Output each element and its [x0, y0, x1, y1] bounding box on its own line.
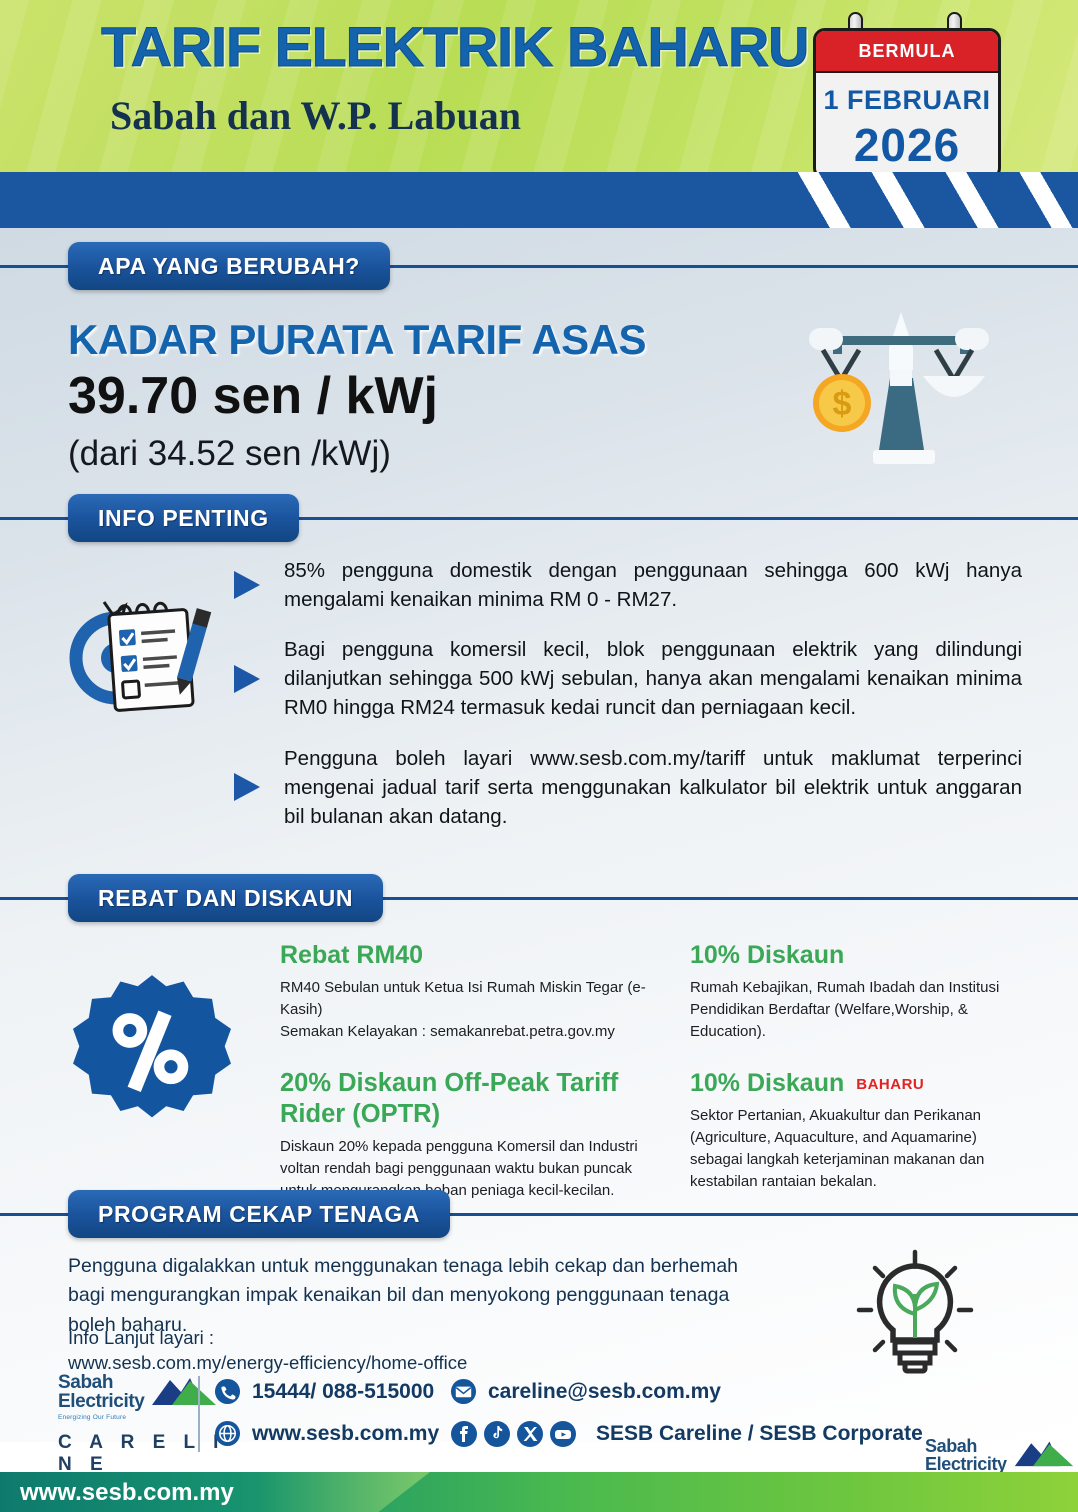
careline-label: C A R E L I N E — [58, 1432, 236, 1476]
info-bullet-list: 85% pengguna domestik dengan penggunaan … — [232, 556, 1022, 852]
phone-icon — [214, 1378, 241, 1405]
brand-tagline: Energizing Our Future — [58, 1414, 144, 1421]
rebate-body: RM40 Sebulan untuk Ketua Isi Rumah Miski… — [280, 977, 670, 1042]
footer-email[interactable]: careline@sesb.com.my — [450, 1378, 721, 1405]
rebate-body: Rumah Kebajikan, Rumah Ibadah dan Instit… — [690, 977, 1020, 1042]
page-title: TARIF ELEKTRIK BAHARU — [101, 14, 808, 79]
brand-line-2: Electricity — [925, 1456, 1007, 1474]
tariff-heading: KADAR PURATA TARIF ASAS — [68, 316, 646, 364]
triangle-bullet-icon — [232, 771, 266, 803]
program-info-label: Info Lanjut layari : — [68, 1327, 214, 1349]
section-label: INFO PENTING — [98, 505, 269, 532]
poster-header: TARIF ELEKTRIK BAHARU Sabah dan W.P. Lab… — [0, 0, 1078, 182]
footer-phone[interactable]: 15444/ 088-515000 — [214, 1378, 434, 1405]
section-header-program-cekap-tenaga: PROGRAM CEKAP TENAGA — [0, 1190, 1078, 1238]
lightbulb-leaf-icon — [845, 1248, 985, 1376]
sesb-careline-logo: Sabah Electricity Energizing Our Future … — [58, 1374, 236, 1476]
rebate-title: 10% Diskaun — [690, 940, 1020, 970]
brand-line-2: Electricity — [58, 1393, 144, 1412]
section-label: PROGRAM CEKAP TENAGA — [98, 1201, 420, 1228]
rebate-title: 20% Diskaun Off-Peak Tariff Rider (OPTR) — [280, 1068, 670, 1129]
section-label: APA YANG BERUBAH? — [98, 253, 360, 280]
triangle-bullet-icon — [232, 569, 266, 601]
mountain-logo-icon — [150, 1372, 218, 1406]
section-header-info-penting: INFO PENTING — [0, 494, 1078, 542]
calendar-banner: BERMULA — [816, 31, 998, 73]
percent-badge-icon — [72, 972, 232, 1130]
page-subtitle: Sabah dan W.P. Labuan — [110, 92, 521, 139]
rebate-title-with-badge: 10% DiskaunBAHARU — [690, 1068, 1020, 1098]
footer-website[interactable]: www.sesb.com.my — [214, 1420, 439, 1447]
social-handles: SESB Careline / SESB Corporate — [596, 1422, 923, 1446]
rebate-title: 10% Diskaun — [690, 1069, 844, 1097]
social-icon-group — [450, 1420, 577, 1448]
list-item: Pengguna boleh layari www.sesb.com.my/ta… — [232, 744, 1022, 831]
brand-line-1: Sabah — [925, 1438, 1007, 1456]
facebook-icon[interactable] — [450, 1420, 478, 1448]
brand-line-1: Sabah — [58, 1374, 144, 1393]
phone-number: 15444/ 088-515000 — [252, 1380, 434, 1404]
section-pill: INFO PENTING — [68, 494, 299, 542]
blue-divider-band — [0, 172, 1078, 230]
section-header-apa-yang-berubah: APA YANG BERUBAH? — [0, 242, 1078, 290]
checklist-clipboard-icon — [68, 578, 228, 733]
rebate-title: Rebat RM40 — [280, 940, 670, 970]
list-item: Bagi pengguna komersil kecil, blok pengg… — [232, 635, 1022, 722]
email-address: careline@sesb.com.my — [488, 1380, 721, 1404]
section-pill: REBAT DAN DISKAUN — [68, 874, 383, 922]
list-item: 85% pengguna domestik dengan penggunaan … — [232, 556, 1022, 614]
youtube-icon[interactable] — [549, 1420, 577, 1448]
list-item-text: Bagi pengguna komersil kecil, blok pengg… — [284, 635, 1022, 722]
section-pill: PROGRAM CEKAP TENAGA — [68, 1190, 450, 1238]
triangle-bullet-icon — [232, 663, 266, 695]
list-item-text: 85% pengguna domestik dengan penggunaan … — [284, 556, 1022, 614]
bottom-url-bar: www.sesb.com.my — [0, 1472, 1078, 1512]
section-label: REBAT DAN DISKAUN — [98, 885, 353, 912]
website-url: www.sesb.com.my — [252, 1422, 439, 1446]
balance-scale-icon: $ — [795, 300, 1000, 475]
calendar-banner-label: BERMULA — [859, 41, 956, 62]
status-badge: BAHARU — [856, 1076, 924, 1094]
footer-contact-bar: Sabah Electricity Energizing Our Future … — [0, 1362, 1078, 1472]
x-twitter-icon[interactable] — [516, 1420, 544, 1448]
list-item-text: Pengguna boleh layari www.sesb.com.my/ta… — [284, 744, 1022, 831]
infographic-poster: TARIF ELEKTRIK BAHARU Sabah dan W.P. Lab… — [0, 0, 1078, 1512]
tariff-value: 39.70 sen / kWj — [68, 366, 438, 426]
footer-social[interactable]: SESB Careline / SESB Corporate — [450, 1420, 923, 1448]
tiktok-icon[interactable] — [483, 1420, 511, 1448]
rebate-body: Sektor Pertanian, Akuakultur dan Perikan… — [690, 1105, 1020, 1192]
rebate-column-right: 10% Diskaun Rumah Kebajikan, Rumah Ibada… — [690, 940, 1020, 1218]
mountain-logo-icon — [1013, 1436, 1075, 1467]
globe-icon — [214, 1420, 241, 1447]
calendar-body: BERMULA 1 FEBRUARI 2026 — [813, 28, 1001, 180]
tariff-previous-value: (dari 34.52 sen /kWj) — [68, 434, 391, 474]
bottom-url: www.sesb.com.my — [20, 1479, 234, 1507]
svg-text:$: $ — [833, 385, 852, 423]
section-header-rebat-dan-diskaun: REBAT DAN DISKAUN — [0, 874, 1078, 922]
calendar-icon: BERMULA 1 FEBRUARI 2026 — [813, 12, 1001, 180]
diagonal-stripes — [778, 172, 1078, 230]
calendar-year: 2026 — [816, 118, 998, 172]
envelope-icon — [450, 1378, 477, 1405]
footer-divider — [198, 1376, 200, 1452]
section-pill: APA YANG BERUBAH? — [68, 242, 390, 290]
calendar-date: 1 FEBRUARI — [816, 85, 998, 116]
rebate-column-left: Rebat RM40 RM40 Sebulan untuk Ketua Isi … — [280, 940, 670, 1228]
